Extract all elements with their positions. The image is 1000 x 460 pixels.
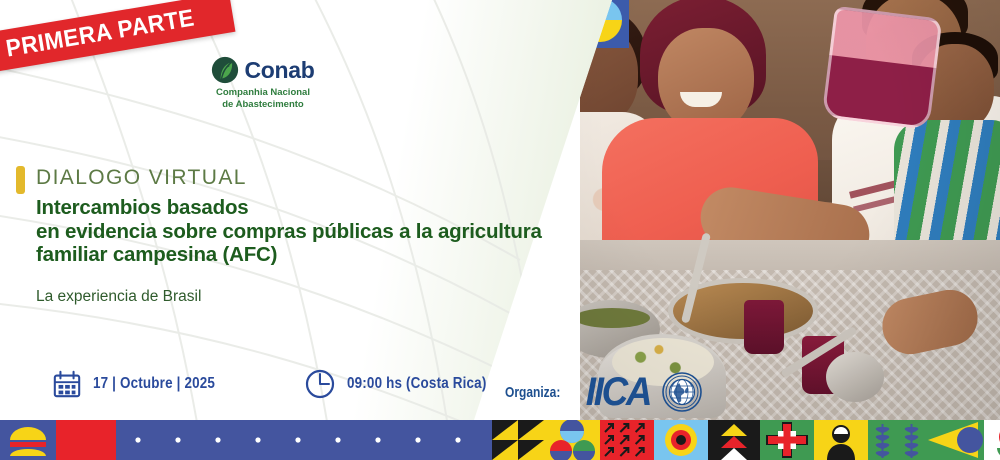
conab-subtitle-line2: de Abastecimento	[203, 99, 323, 111]
conab-subtitle-line1: Companhia Nacional	[203, 87, 323, 99]
chevron-motif	[708, 420, 760, 460]
page-title: Intercambios basados en evidencia sobre …	[36, 196, 542, 267]
target-motif	[654, 420, 708, 460]
event-banner: PRIMERA PARTE Conab Companhia Nacional d…	[0, 0, 1000, 460]
globe-seal-icon	[662, 372, 702, 412]
title-line-1: Intercambios basados	[36, 196, 542, 220]
event-time-text: 09:00 hs (Costa Rica)	[347, 375, 486, 393]
event-date: 17 | Octubre | 2025	[52, 369, 238, 399]
flower-motif	[984, 420, 1000, 460]
decorative-footer	[0, 420, 1000, 460]
event-time: 09:00 hs (Costa Rica)	[304, 368, 513, 400]
event-meta: 17 | Octubre | 2025 09:00 hs (Costa Rica…	[52, 368, 513, 400]
arrows-motif	[600, 420, 654, 460]
eye-motif	[56, 420, 116, 460]
conab-name: Conab	[244, 57, 314, 84]
cross-motif	[760, 420, 814, 460]
flag-motif	[926, 420, 984, 460]
dotted-band	[116, 420, 492, 460]
wheat-motif	[868, 420, 926, 460]
sun-stripe-motif	[0, 420, 56, 460]
title-line-2: en evidencia sobre compras públicas a la…	[36, 220, 542, 244]
organizer-label: Organiza:	[505, 384, 560, 401]
kicker-text: DIALOGO VIRTUAL	[36, 166, 247, 190]
conab-logo: Conab Companhia Nacional de Abasteciment…	[203, 56, 323, 110]
event-date-text: 17 | Octubre | 2025	[93, 375, 215, 393]
organizer-block: Organiza: IICA	[505, 372, 702, 412]
clock-icon	[304, 368, 336, 400]
subtitle-text: La experiencia de Brasil	[36, 288, 201, 306]
calendar-icon	[52, 369, 82, 399]
person-motif	[814, 420, 868, 460]
event-photo	[580, 0, 1000, 420]
accent-bar	[16, 166, 25, 194]
iica-wordmark: IICA	[586, 372, 650, 412]
circles-motif	[544, 420, 600, 460]
title-line-3: familiar campesina (AFC)	[36, 243, 542, 267]
leaf-seed-icon	[211, 56, 239, 84]
triangles-motif	[492, 420, 544, 460]
